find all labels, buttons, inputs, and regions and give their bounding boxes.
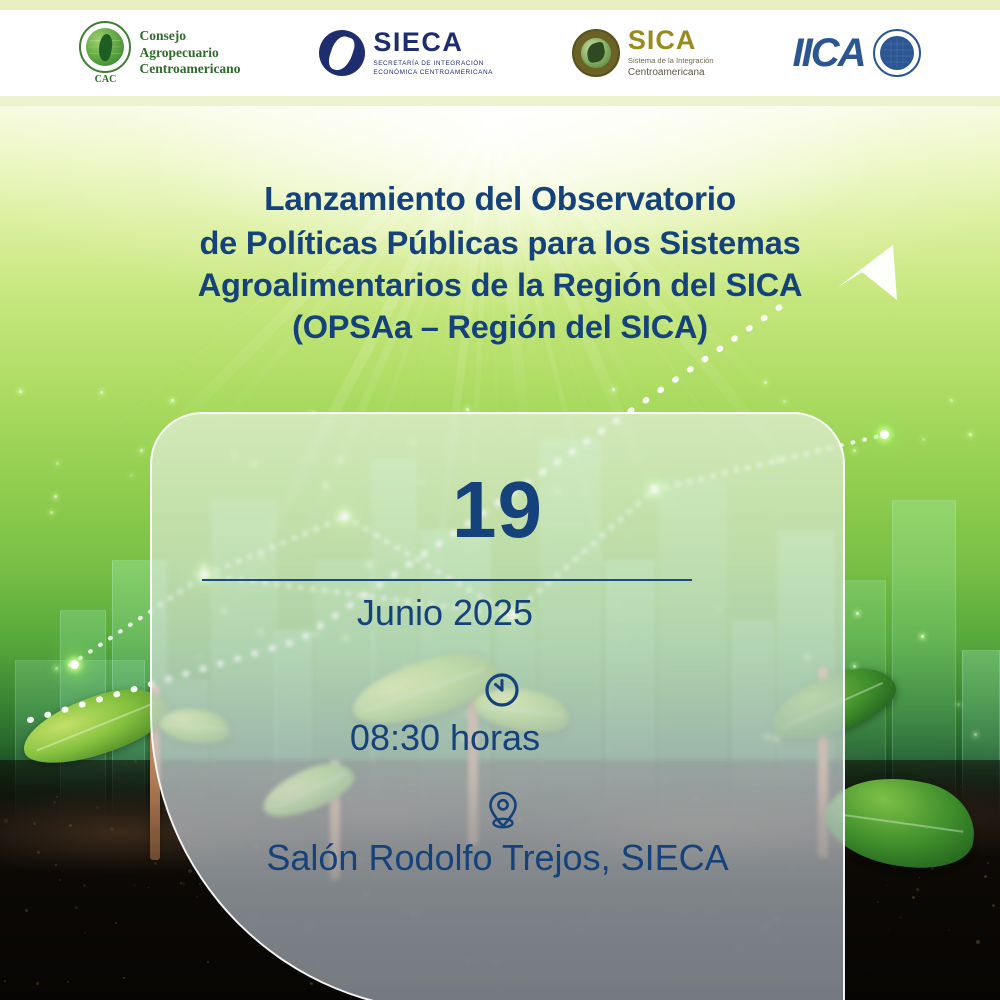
background-spark: [55, 667, 58, 670]
sieca-sub-2: ECONÓMICA CENTROAMERICANA: [373, 68, 493, 77]
cac-seal-icon: CAC: [79, 21, 131, 85]
background-spark: [764, 381, 767, 384]
logo-cac: CAC Consejo Agropecuario Centroamericano: [79, 21, 240, 85]
sieca-sub: SECRETARÍA DE INTEGRACIÓN ECONÓMICA CENT…: [373, 59, 493, 78]
sieca-isthmus-icon: [319, 30, 365, 76]
clock-icon: [482, 670, 522, 715]
sica-wordmark: SICA Sistema de la Integración Centroame…: [628, 27, 714, 80]
header-bottom-strip: [0, 96, 1000, 106]
title-line-4: (OPSAa – Región del SICA): [0, 306, 1000, 348]
cac-line-3: Centroamericano: [139, 61, 240, 78]
event-poster: CAC Consejo Agropecuario Centroamericano…: [0, 0, 1000, 1000]
sieca-word: SIECA: [373, 29, 493, 56]
background-spark: [950, 399, 953, 402]
background-spark: [922, 438, 925, 441]
background-spark: [54, 495, 57, 498]
cac-line-1: Consejo: [139, 28, 240, 45]
iica-globe-icon: [873, 29, 921, 77]
cac-line-2: Agropecuario: [139, 45, 240, 62]
cac-abbr: CAC: [95, 74, 117, 85]
sica-seal-icon: [572, 29, 620, 77]
sica-word: SICA: [628, 27, 714, 54]
background-spark: [921, 635, 924, 638]
background-spark: [783, 400, 786, 403]
title-line-3: Agroalimentarios de la Región del SICA: [0, 264, 1000, 306]
logo-sica: SICA Sistema de la Integración Centroame…: [572, 27, 714, 80]
background-spark: [969, 433, 972, 436]
background-spark: [19, 390, 22, 393]
background-spark: [853, 665, 856, 668]
location-pin-icon: [485, 790, 521, 839]
event-details-content: 19 Junio 2025 08:30 horas Salón Rodolfo …: [150, 412, 845, 1000]
event-month-year: Junio 2025: [150, 590, 740, 635]
event-venue: Salón Rodolfo Trejos, SIECA: [150, 837, 845, 879]
sieca-sub-1: SECRETARÍA DE INTEGRACIÓN: [373, 59, 493, 68]
background-spark: [974, 733, 977, 736]
sica-sub-2: Centroamericana: [628, 66, 714, 80]
title-line-2: de Políticas Públicas para los Sistemas: [0, 222, 1000, 264]
date-divider: [202, 579, 692, 581]
background-spark: [50, 511, 53, 514]
background-spark: [100, 391, 103, 394]
background-spark: [130, 474, 133, 477]
title-line-1: Lanzamiento del Observatorio: [0, 178, 1000, 222]
network-node: [70, 660, 79, 669]
background-spark: [856, 612, 859, 615]
background-spark: [171, 399, 174, 402]
sica-sub-1: Sistema de la Integración: [628, 56, 714, 66]
cac-wordmark: Consejo Agropecuario Centroamericano: [139, 28, 240, 79]
background-spark: [140, 449, 143, 452]
iica-word: IICA: [793, 33, 865, 73]
page-title: Lanzamiento del Observatorio de Política…: [0, 178, 1000, 348]
background-spark: [612, 388, 615, 391]
background-spark: [853, 449, 856, 452]
background-spark: [56, 462, 59, 465]
header-logo-bar: CAC Consejo Agropecuario Centroamericano…: [0, 10, 1000, 96]
sica-sub: Sistema de la Integración Centroamerican…: [628, 56, 714, 80]
logo-iica: IICA: [793, 29, 921, 77]
event-time: 08:30 horas: [150, 717, 740, 759]
network-node: [880, 430, 889, 439]
sieca-wordmark: SIECA SECRETARÍA DE INTEGRACIÓN ECONÓMIC…: [373, 29, 493, 78]
event-day: 19: [150, 470, 845, 550]
background-spark: [957, 703, 960, 706]
background-spark: [466, 408, 469, 411]
header-top-strip: [0, 0, 1000, 10]
logo-sieca: SIECA SECRETARÍA DE INTEGRACIÓN ECONÓMIC…: [319, 29, 493, 78]
